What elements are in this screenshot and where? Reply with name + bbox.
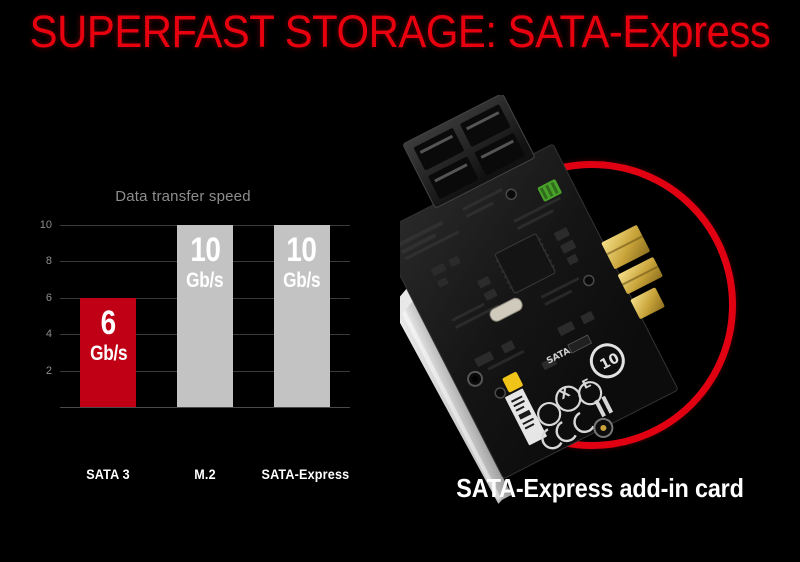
y-axis-tick: 2: [24, 366, 52, 377]
bar-sata-3: 6Gb/s: [80, 298, 136, 407]
chart-plot-area: 1086426Gb/sSATA 310Gb/sM.210Gb/sSATA-Exp…: [60, 225, 350, 407]
add-in-card-image: X E 10: [400, 95, 800, 525]
slide-root: SUPERFAST STORAGE: SATA-Express Data tra…: [0, 0, 800, 562]
y-axis-tick: 6: [24, 293, 52, 304]
bar-m-2: 10Gb/s: [177, 225, 233, 407]
data-transfer-speed-chart: Data transfer speed 1086426Gb/sSATA 310G…: [18, 178, 378, 448]
y-axis-tick: 8: [24, 256, 52, 267]
chart-title: Data transfer speed: [18, 188, 348, 205]
y-axis-tick: 4: [24, 329, 52, 340]
bar-unit-label: Gb/s: [90, 342, 127, 366]
category-label: M.2: [165, 466, 246, 482]
bar-value-label: 10: [190, 231, 220, 269]
bar-unit-label: Gb/s: [186, 269, 223, 293]
bar-value-label: 10: [287, 231, 317, 269]
y-axis-tick: 10: [24, 220, 52, 231]
x-axis-baseline: [60, 407, 350, 408]
product-photo-panel: X E 10: [400, 95, 800, 525]
photo-caption: SATA-Express add-in card: [420, 473, 780, 504]
bar-sata-express: 10Gb/s: [274, 225, 330, 407]
bar-unit-label: Gb/s: [283, 269, 320, 293]
category-label: SATA 3: [68, 466, 149, 482]
bar-value-label: 6: [101, 304, 116, 342]
page-title: SUPERFAST STORAGE: SATA-Express: [28, 6, 772, 58]
category-label: SATA-Express: [261, 466, 342, 482]
